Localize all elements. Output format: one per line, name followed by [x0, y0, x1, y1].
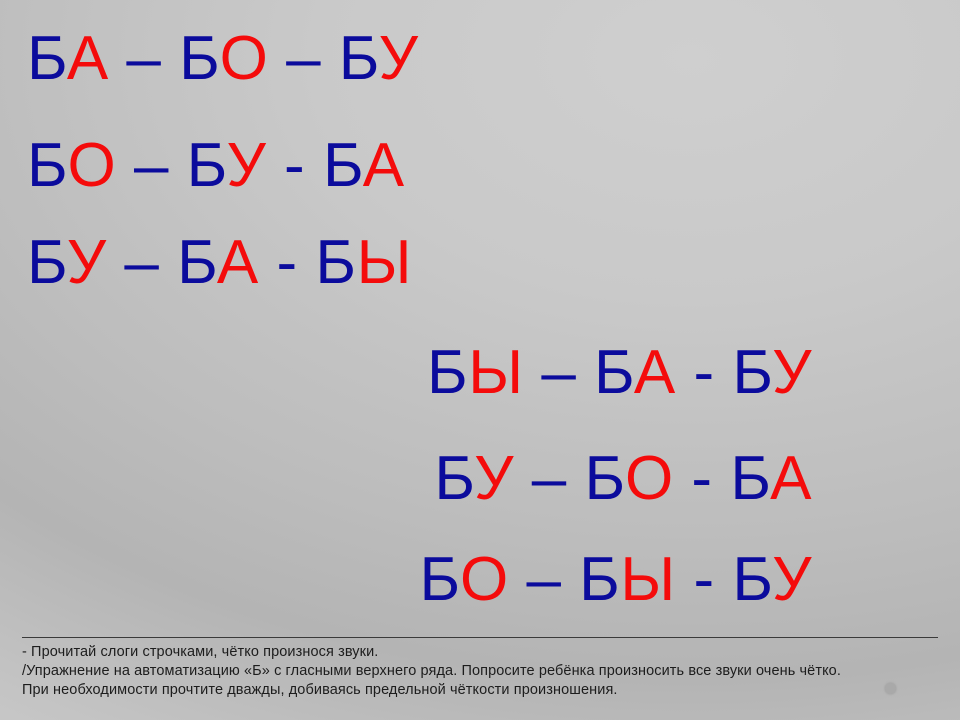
vowel-letter: У: [474, 444, 514, 513]
note-line-2: /Упражнение на автоматизацию «Б» с гласн…: [22, 662, 942, 681]
consonant-letter: –: [524, 338, 594, 407]
consonant-letter: -: [259, 228, 316, 297]
syllable-line-4: БЫ – БА - БУ: [0, 342, 960, 404]
consonant-letter: Б: [339, 24, 379, 93]
syllable-line-1: БА – БО – БУ: [0, 28, 960, 90]
horizontal-divider: [22, 637, 938, 638]
vowel-letter: А: [634, 338, 676, 407]
consonant-letter: Б: [594, 338, 634, 407]
gray-dot-icon: [885, 683, 896, 694]
teacher-notes-block: - Прочитай слоги строчками, чётко произн…: [22, 643, 942, 700]
vowel-letter: О: [220, 24, 269, 93]
vowel-letter: У: [67, 228, 107, 297]
syllable-line-6: БО – БЫ - БУ: [0, 549, 960, 611]
note-line-3: При необходимости прочтите дважды, добив…: [22, 681, 942, 700]
syllable-exercise-block: БА – БО – БУБО – БУ - БАБУ – БА - БЫБЫ –…: [0, 0, 960, 632]
consonant-letter: Б: [419, 545, 460, 614]
syllable-line-5: БУ – БО - БА: [0, 448, 960, 510]
slide-canvas: БА – БО – БУБО – БУ - БАБУ – БА - БЫБЫ –…: [0, 0, 960, 720]
vowel-letter: У: [226, 131, 266, 200]
consonant-letter: Б: [434, 444, 474, 513]
vowel-letter: У: [772, 545, 812, 614]
vowel-letter: Ы: [357, 228, 412, 297]
vowel-letter: А: [770, 444, 812, 513]
consonant-letter: –: [107, 228, 177, 297]
consonant-letter: Б: [27, 228, 67, 297]
consonant-letter: Б: [730, 444, 770, 513]
consonant-letter: Б: [427, 338, 468, 407]
vowel-letter: О: [625, 444, 674, 513]
consonant-letter: –: [116, 131, 186, 200]
consonant-letter: Б: [187, 131, 227, 200]
consonant-letter: Б: [315, 228, 356, 297]
vowel-letter: О: [68, 131, 117, 200]
consonant-letter: Б: [27, 24, 67, 93]
consonant-letter: Б: [179, 24, 220, 93]
consonant-letter: -: [674, 444, 731, 513]
consonant-letter: Б: [584, 444, 625, 513]
syllable-line-2: БО – БУ - БА: [0, 135, 960, 197]
vowel-letter: Ы: [468, 338, 523, 407]
consonant-letter: -: [266, 131, 323, 200]
vowel-letter: А: [67, 24, 109, 93]
consonant-letter: –: [514, 444, 584, 513]
consonant-letter: Б: [323, 131, 363, 200]
consonant-letter: –: [109, 24, 179, 93]
vowel-letter: У: [379, 24, 419, 93]
vowel-letter: А: [217, 228, 259, 297]
syllable-line-3: БУ – БА - БЫ: [0, 232, 960, 294]
consonant-letter: Б: [732, 338, 772, 407]
consonant-letter: Б: [177, 228, 217, 297]
consonant-letter: -: [676, 545, 733, 614]
vowel-letter: У: [772, 338, 812, 407]
note-line-1: - Прочитай слоги строчками, чётко произн…: [22, 643, 942, 662]
vowel-letter: Ы: [620, 545, 675, 614]
consonant-letter: -: [676, 338, 733, 407]
consonant-letter: Б: [732, 545, 772, 614]
vowel-letter: О: [460, 545, 509, 614]
consonant-letter: –: [268, 24, 338, 93]
consonant-letter: –: [509, 545, 579, 614]
consonant-letter: Б: [579, 545, 620, 614]
consonant-letter: Б: [27, 131, 68, 200]
vowel-letter: А: [363, 131, 405, 200]
